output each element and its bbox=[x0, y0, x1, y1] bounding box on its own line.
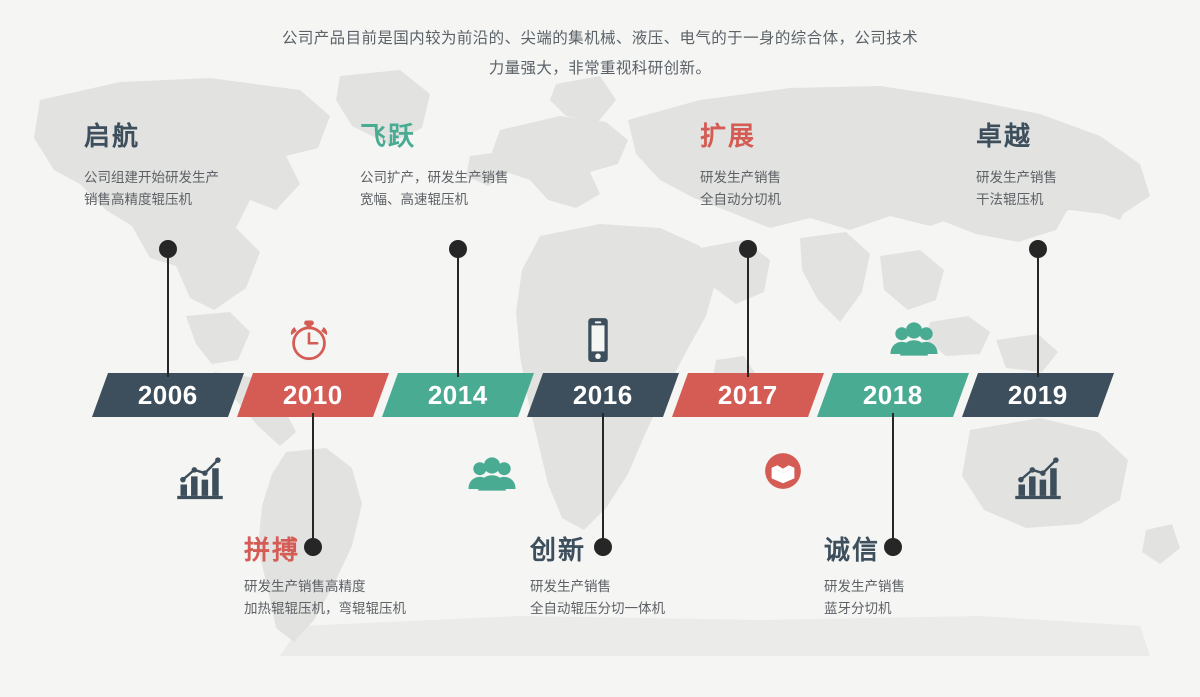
milestone-title-2010: 拼搏 bbox=[244, 530, 300, 567]
milestone-pin-dot bbox=[304, 538, 322, 556]
timeline-year-label: 2014 bbox=[428, 380, 488, 411]
milestone-pin-2006 bbox=[167, 240, 169, 377]
timeline-year-label: 2019 bbox=[1008, 380, 1068, 411]
package-box-icon bbox=[757, 445, 809, 497]
milestone-description-2006: 公司组建开始研发生产 销售高精度辊压机 bbox=[84, 167, 219, 211]
timeline-segment-2006[interactable]: 2006 bbox=[92, 373, 244, 417]
milestone-pin-2016 bbox=[602, 413, 604, 556]
milestone-title-2017: 扩展 bbox=[700, 116, 756, 153]
milestone-pin-dot bbox=[594, 538, 612, 556]
header-line-2: 力量强大，非常重视科研创新。 bbox=[0, 54, 1200, 84]
milestone-title-2016: 创新 bbox=[530, 530, 586, 567]
milestone-pin-2017 bbox=[747, 240, 749, 377]
people-group-icon bbox=[888, 315, 940, 367]
timeline-year-label: 2017 bbox=[718, 380, 778, 411]
milestone-title-2018: 诚信 bbox=[824, 530, 880, 567]
timeline-segment-2016[interactable]: 2016 bbox=[527, 373, 679, 417]
alarm-clock-icon bbox=[283, 314, 335, 366]
timeline-segment-2019[interactable]: 2019 bbox=[962, 373, 1114, 417]
timeline-bar: 2006201020142016201720182019 bbox=[100, 373, 1110, 417]
header-line-1: 公司产品目前是国内较为前沿的、尖端的集机械、液压、电气的于一身的综合体，公司技术 bbox=[0, 24, 1200, 54]
milestone-pin-2018 bbox=[892, 413, 894, 556]
milestone-title-2006: 启航 bbox=[84, 116, 140, 153]
milestone-description-2016: 研发生产销售 全自动辊压分切一体机 bbox=[530, 576, 665, 620]
milestone-pin-dot bbox=[884, 538, 902, 556]
milestone-pin-dot bbox=[1029, 240, 1047, 258]
timeline-year-label: 2006 bbox=[138, 380, 198, 411]
timeline-year-label: 2018 bbox=[863, 380, 923, 411]
milestone-description-2019: 研发生产销售 干法辊压机 bbox=[976, 167, 1057, 211]
milestone-title-2014: 飞跃 bbox=[360, 116, 416, 153]
milestone-description-2017: 研发生产销售 全自动分切机 bbox=[700, 167, 781, 211]
bar-chart-icon bbox=[174, 452, 226, 504]
milestone-pin-2019 bbox=[1037, 240, 1039, 377]
bar-chart-icon bbox=[1012, 452, 1064, 504]
timeline-infographic: 公司产品目前是国内较为前沿的、尖端的集机械、液压、电气的于一身的综合体，公司技术… bbox=[0, 0, 1200, 697]
timeline-segment-2010[interactable]: 2010 bbox=[237, 373, 389, 417]
milestone-description-2014: 公司扩产，研发生产销售 宽幅、高速辊压机 bbox=[360, 167, 509, 211]
milestone-pin-2014 bbox=[457, 240, 459, 377]
people-group-icon bbox=[466, 450, 518, 502]
milestone-description-2018: 研发生产销售 蓝牙分切机 bbox=[824, 576, 905, 620]
timeline-year-label: 2016 bbox=[573, 380, 633, 411]
milestone-pin-dot bbox=[739, 240, 757, 258]
page-header-text: 公司产品目前是国内较为前沿的、尖端的集机械、液压、电气的于一身的综合体，公司技术… bbox=[0, 24, 1200, 84]
timeline-year-label: 2010 bbox=[283, 380, 343, 411]
milestone-pin-2010 bbox=[312, 413, 314, 556]
timeline-segment-2017[interactable]: 2017 bbox=[672, 373, 824, 417]
milestone-pin-dot bbox=[159, 240, 177, 258]
timeline-segment-2014[interactable]: 2014 bbox=[382, 373, 534, 417]
milestone-pin-dot bbox=[449, 240, 467, 258]
milestone-title-2019: 卓越 bbox=[976, 116, 1032, 153]
milestone-description-2010: 研发生产销售高精度 加热辊辊压机，弯辊辊压机 bbox=[244, 576, 406, 620]
smartphone-icon bbox=[572, 314, 624, 366]
timeline-segment-2018[interactable]: 2018 bbox=[817, 373, 969, 417]
